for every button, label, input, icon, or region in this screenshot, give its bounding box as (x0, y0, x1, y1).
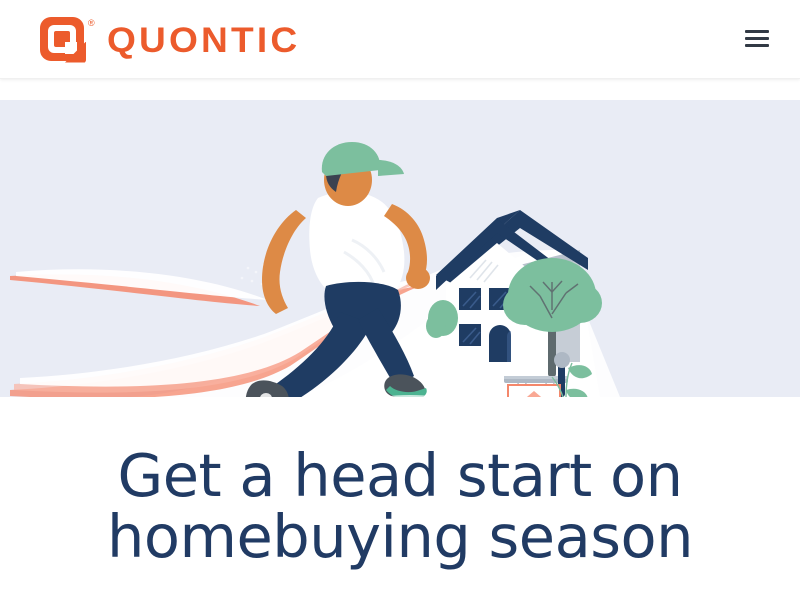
menu-bar-bottom (745, 44, 769, 47)
runner-toward-house-illustration (0, 100, 800, 397)
hero-illustration-band (0, 100, 800, 397)
hero-copy-block: Get a head start on homebuying season (0, 397, 800, 568)
cap-brim (378, 160, 404, 176)
page-title: Get a head start on homebuying season (0, 445, 800, 568)
runner-cap (322, 142, 380, 176)
site-header: ® QUONTIC (0, 0, 800, 79)
brand-wordmark: QUONTIC (107, 23, 300, 58)
menu-bar-middle (745, 37, 769, 40)
brand-logo-link[interactable]: ® QUONTIC (40, 16, 289, 64)
menu-bar-top (745, 30, 769, 33)
quontic-q-mark-icon: ® (40, 17, 87, 64)
runner-fist (406, 267, 430, 289)
runner-back-arm (262, 210, 306, 314)
dot-texture-left (241, 264, 266, 286)
hamburger-menu-icon[interactable] (739, 22, 775, 56)
page-root: ® QUONTIC (0, 0, 800, 600)
registered-trademark-icon: ® (88, 19, 95, 28)
